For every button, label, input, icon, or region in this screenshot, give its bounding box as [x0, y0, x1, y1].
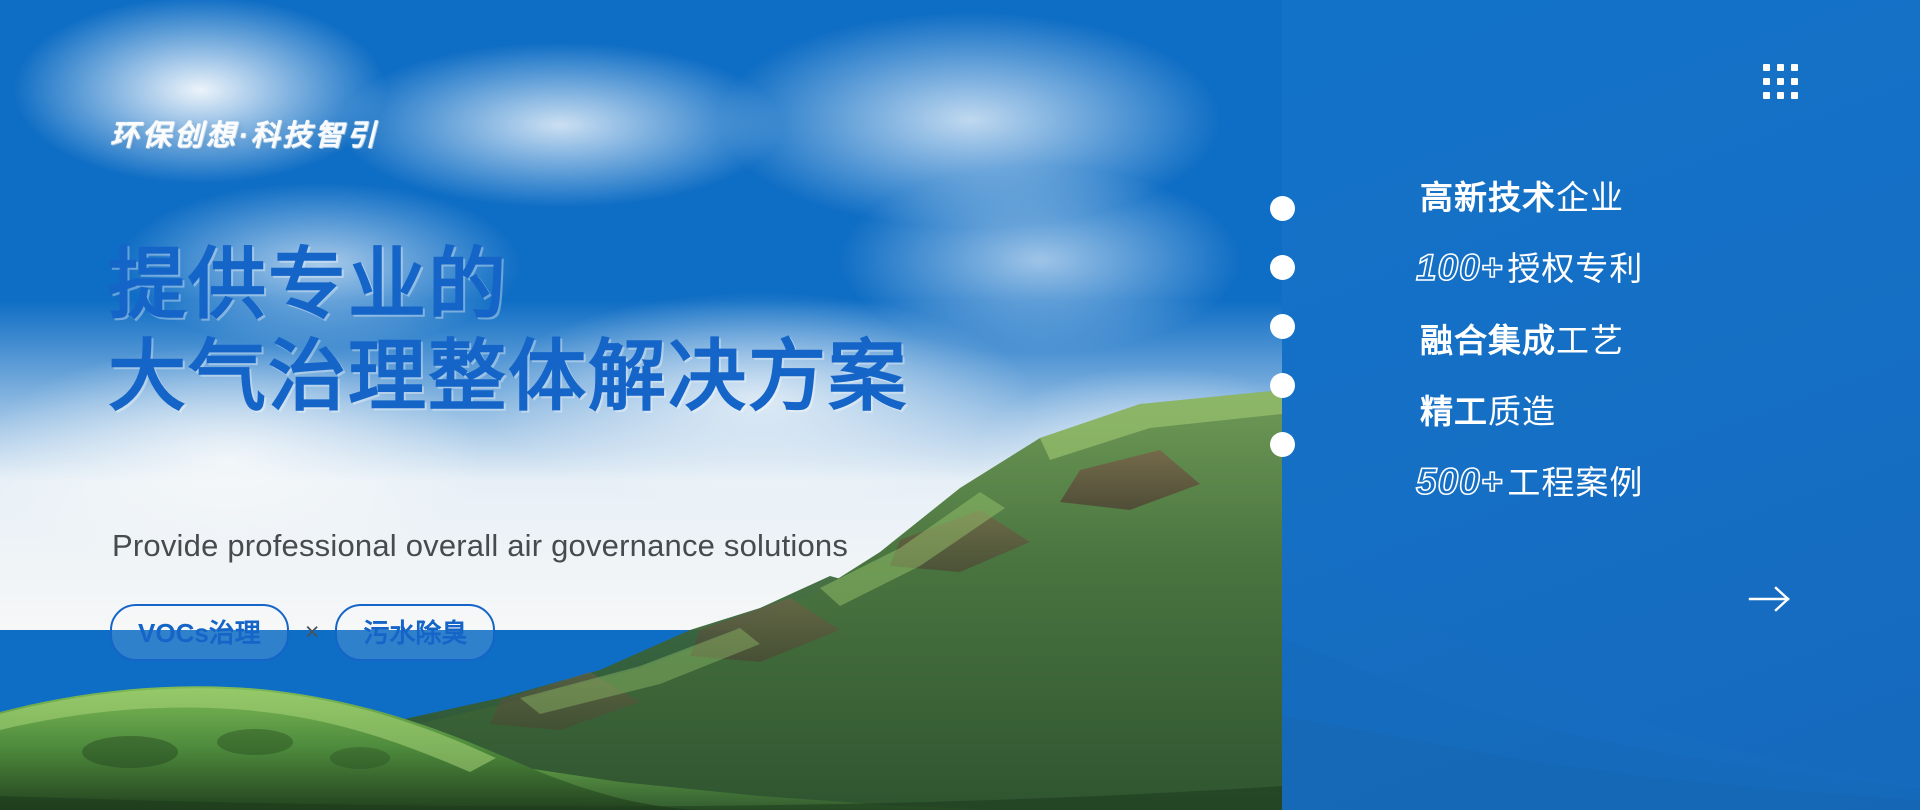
feature-light-text: 质造	[1488, 393, 1556, 430]
grid-dot	[1763, 92, 1770, 99]
feature-item-project-cases: 500+工程案例	[1416, 459, 1886, 505]
grid-dot	[1791, 92, 1798, 99]
grid-dot	[1777, 92, 1784, 99]
hero-background-photo: 环保创想·科技智引 提供专业的 大气治理整体解决方案 Provide profe…	[0, 0, 1282, 810]
carousel-dot[interactable]	[1270, 432, 1295, 457]
feature-bold-text: 精工	[1420, 393, 1488, 430]
carousel-dot[interactable]	[1270, 373, 1295, 398]
feature-light-text: 工程案例	[1507, 464, 1643, 501]
carousel-dot[interactable]	[1270, 314, 1295, 339]
hero-tag-pills: VOCs治理 × 污水除臭	[110, 604, 495, 661]
feature-item-high-tech: 高新技术企业	[1416, 174, 1886, 220]
cloud-shape	[620, 0, 1282, 270]
hero-headline: 提供专业的 大气治理整体解决方案	[108, 238, 908, 422]
arrow-right-icon[interactable]	[1748, 584, 1792, 614]
hero-subtitle: Provide professional overall air governa…	[112, 528, 848, 564]
feature-light-text: 授权专利	[1507, 250, 1643, 287]
feature-number: 500+	[1416, 461, 1507, 502]
grid-dot	[1777, 64, 1784, 71]
pill-separator: ×	[305, 618, 320, 647]
pill-vocs-treatment[interactable]: VOCs治理	[110, 604, 289, 661]
feature-bold-text: 融合集成	[1420, 322, 1556, 359]
green-mountain-landscape	[0, 380, 1282, 810]
pill-wastewater-deodorization[interactable]: 污水除臭	[335, 604, 495, 661]
feature-item-integration-process: 融合集成工艺	[1416, 317, 1886, 363]
hero-banner: 环保创想·科技智引 提供专业的 大气治理整体解决方案 Provide profe…	[0, 0, 1920, 810]
grid-dot	[1791, 64, 1798, 71]
carousel-dots[interactable]	[1270, 196, 1295, 491]
headline-line-2: 大气治理整体解决方案	[108, 330, 908, 422]
app-grid-icon[interactable]	[1763, 64, 1798, 99]
feature-item-patents: 100+授权专利	[1416, 245, 1886, 291]
grid-dot	[1763, 78, 1770, 85]
grid-dot	[1763, 64, 1770, 71]
hero-tagline: 环保创想·科技智引	[110, 112, 379, 154]
feature-light-text: 工艺	[1556, 322, 1624, 359]
feature-bold-text: 高新技术	[1420, 179, 1556, 216]
cloud-shape	[0, 0, 460, 220]
feature-light-text: 企业	[1556, 179, 1624, 216]
feature-number: 100+	[1416, 247, 1507, 288]
carousel-dot[interactable]	[1270, 255, 1295, 280]
hero-right-panel: 高新技术企业 100+授权专利 融合集成工艺 精工质造 500+工程案例	[1282, 0, 1920, 810]
headline-line-1: 提供专业的	[108, 240, 508, 328]
feature-list: 高新技术企业 100+授权专利 融合集成工艺 精工质造 500+工程案例	[1416, 174, 1886, 505]
carousel-dot[interactable]	[1270, 196, 1295, 221]
grid-dot	[1791, 78, 1798, 85]
feature-item-craftsmanship: 精工质造	[1416, 388, 1886, 434]
grid-dot	[1777, 78, 1784, 85]
panel-mountain-silhouette	[1282, 510, 1920, 810]
